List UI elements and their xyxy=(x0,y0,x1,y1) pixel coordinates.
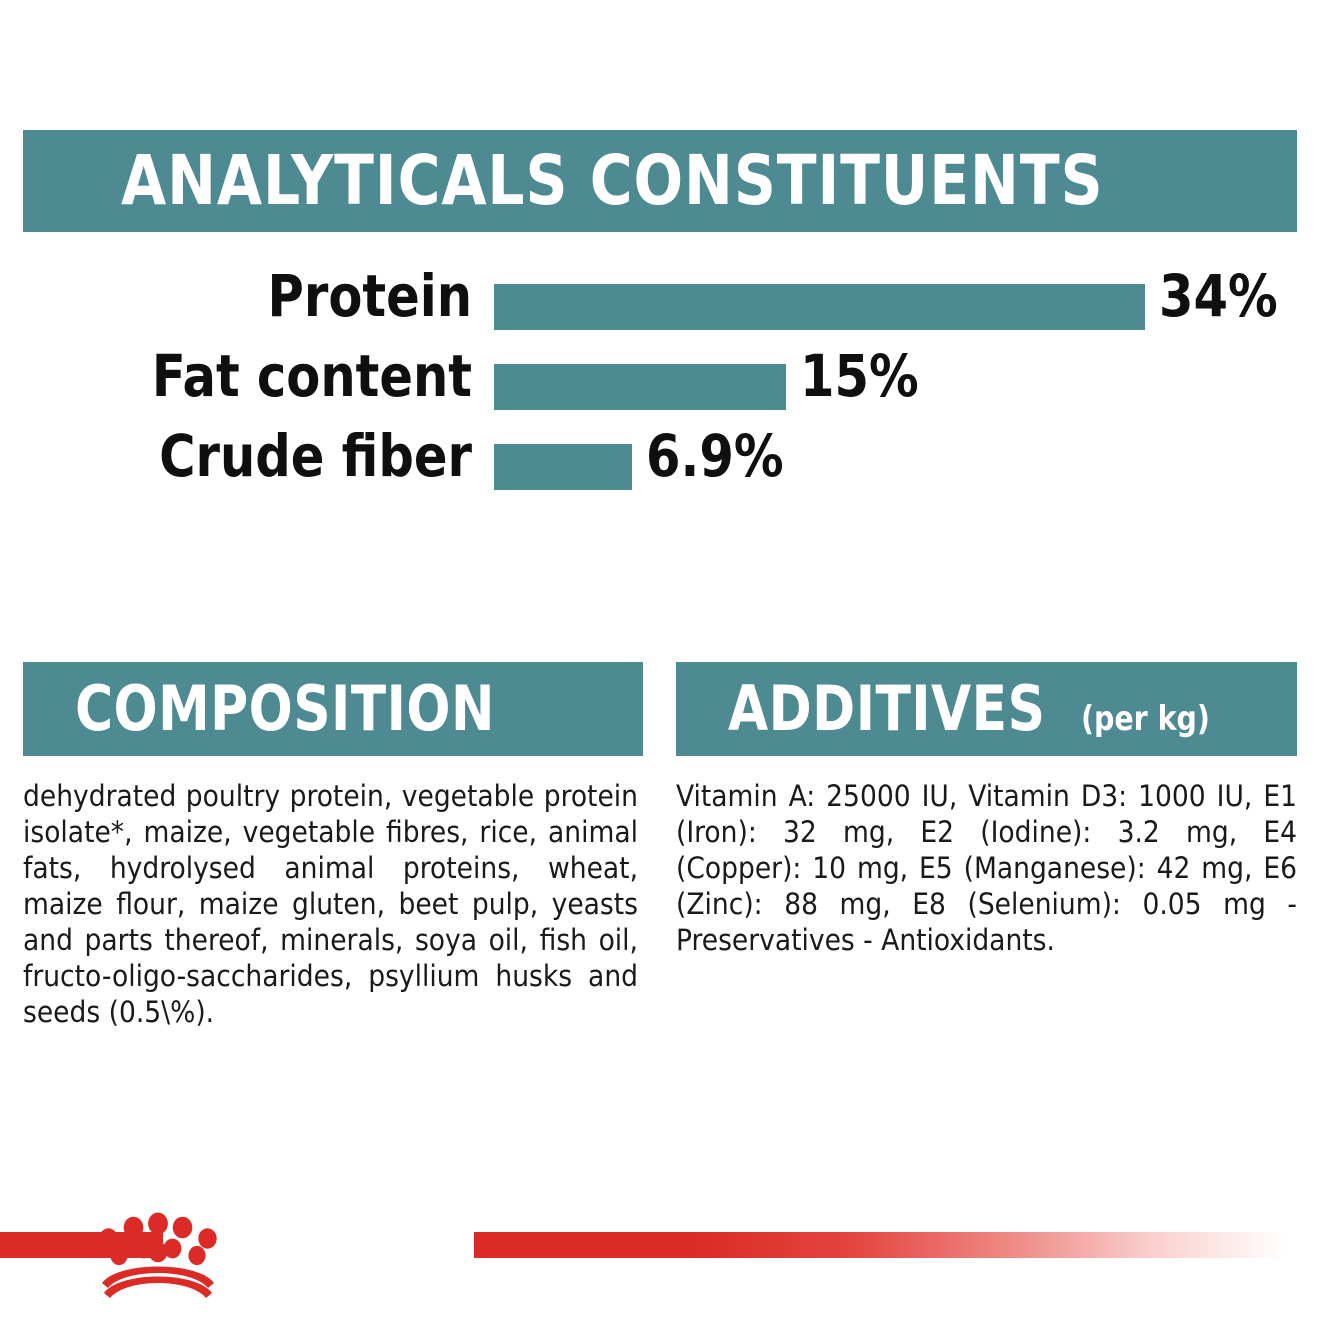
additives-panel: ADDITIVES (per kg) Vitamin A: 25000 IU, … xyxy=(676,662,1297,958)
chart-value-crude-fiber: 6.9% xyxy=(646,422,783,490)
analyticals-constituents-title: ANALYTICALS CONSTITUENTS xyxy=(121,147,1104,216)
chart-label-protein: Protein xyxy=(73,262,472,330)
chart-label-fat-content: Fat content xyxy=(73,342,472,410)
footer-rule-right xyxy=(474,1232,1320,1258)
additives-subtitle: (per kg) xyxy=(1081,702,1210,736)
chart-bar-fat-content xyxy=(494,364,786,410)
additives-title: ADDITIVES xyxy=(728,678,1045,740)
analyticals-bar-chart: Protein 34% Fat content 15% Crude fiber … xyxy=(0,262,1320,512)
chart-row-fat-content: Fat content 15% xyxy=(0,342,1320,422)
royal-canin-crown-logo xyxy=(88,1205,228,1305)
composition-body-text: dehydrated poultry protein, vegetable pr… xyxy=(23,778,638,1030)
chart-bar-crude-fiber xyxy=(494,444,632,490)
composition-title: COMPOSITION xyxy=(75,678,495,740)
composition-panel: COMPOSITION dehydrated poultry protein, … xyxy=(23,662,643,1030)
additives-header: ADDITIVES (per kg) xyxy=(676,662,1297,756)
chart-row-protein: Protein 34% xyxy=(0,262,1320,342)
chart-value-fat-content: 15% xyxy=(800,342,919,410)
chart-row-crude-fiber: Crude fiber 6.9% xyxy=(0,422,1320,502)
analyticals-constituents-header: ANALYTICALS CONSTITUENTS xyxy=(23,130,1297,232)
composition-header: COMPOSITION xyxy=(23,662,643,756)
chart-bar-protein xyxy=(494,284,1145,330)
chart-label-crude-fiber: Crude fiber xyxy=(73,422,472,490)
additives-body-text: Vitamin A: 25000 IU, Vitamin D3: 1000 IU… xyxy=(676,778,1297,958)
chart-value-protein: 34% xyxy=(1159,262,1278,330)
